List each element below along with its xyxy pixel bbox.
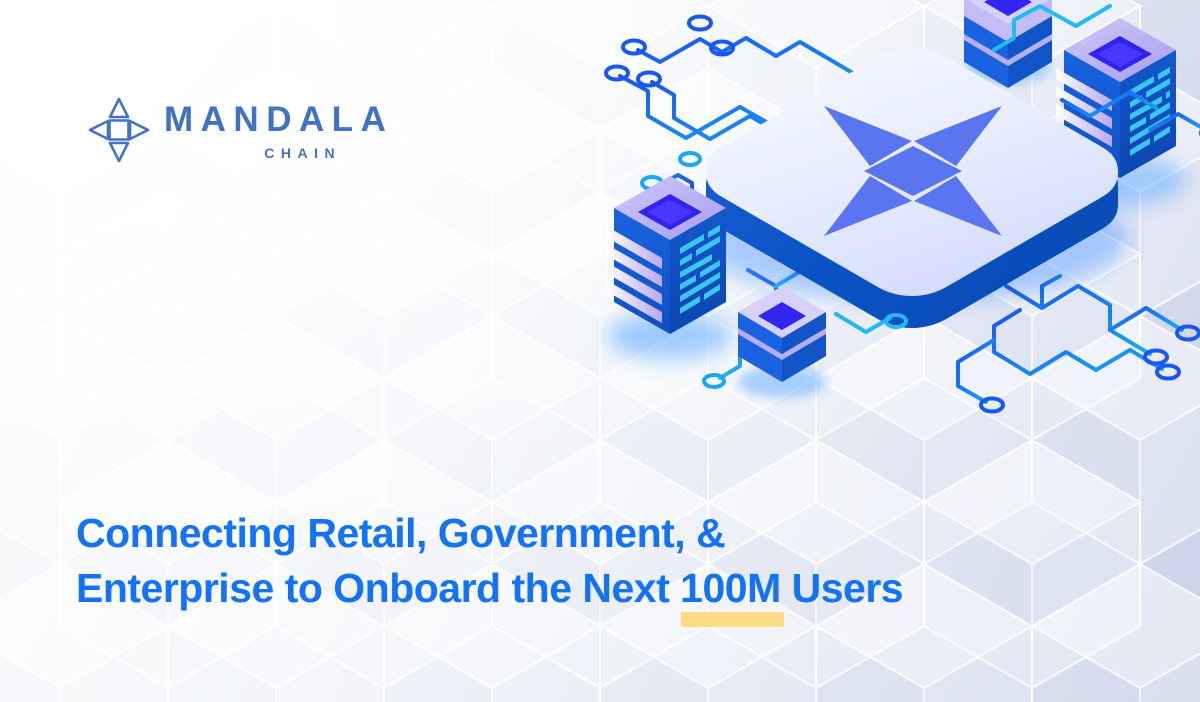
bottom-right-traces: [958, 92, 1200, 402]
brand-subtitle: CHAIN: [216, 146, 341, 160]
right-cyan-traces: [836, 6, 1110, 332]
headline-block: Connecting Retail, Government, & Enterpr…: [76, 506, 1076, 616]
headline-line-2-after: Users: [781, 565, 903, 611]
headline-highlight-100m: 100M: [680, 561, 781, 616]
rack-slats-right: [1056, 68, 1112, 165]
platform-glow: [697, 178, 1127, 302]
rack-slats-left: [606, 226, 662, 323]
top-left-trace-terminals: [606, 17, 733, 86]
brand-logo-lockup[interactable]: MANDALA CHAIN: [88, 96, 393, 164]
bottom-right-trace-terminals: [981, 127, 1200, 412]
headline-line-2-before: Enterprise to Onboard the Next: [76, 565, 680, 611]
rack-data-bars-right: [1130, 67, 1170, 156]
server-rack-right: [1054, 18, 1186, 206]
central-platform: [706, 48, 1118, 328]
headline-line-1: Connecting Retail, Government, &: [76, 506, 1076, 561]
mandala-bowtie-logo-icon: [824, 106, 1002, 236]
server-node-bottom: [738, 286, 826, 398]
brand-name: MANDALA: [164, 102, 393, 137]
server-rack-left: [606, 176, 732, 360]
headline-line-2: Enterprise to Onboard the Next 100M User…: [76, 561, 1076, 616]
hero-banner: MANDALA CHAIN: [0, 0, 1200, 702]
isometric-network-illustration: [590, 0, 1200, 420]
left-traces: [652, 162, 806, 378]
brand-wordmark: MANDALA CHAIN: [164, 100, 393, 160]
mandala-compass-icon: [88, 96, 150, 164]
rack-data-bars-left: [680, 225, 720, 314]
right-cyan-terminals: [886, 315, 906, 327]
left-trace-terminals: [642, 153, 724, 387]
top-left-traces: [620, 26, 908, 140]
server-node-top: [964, 0, 1052, 88]
